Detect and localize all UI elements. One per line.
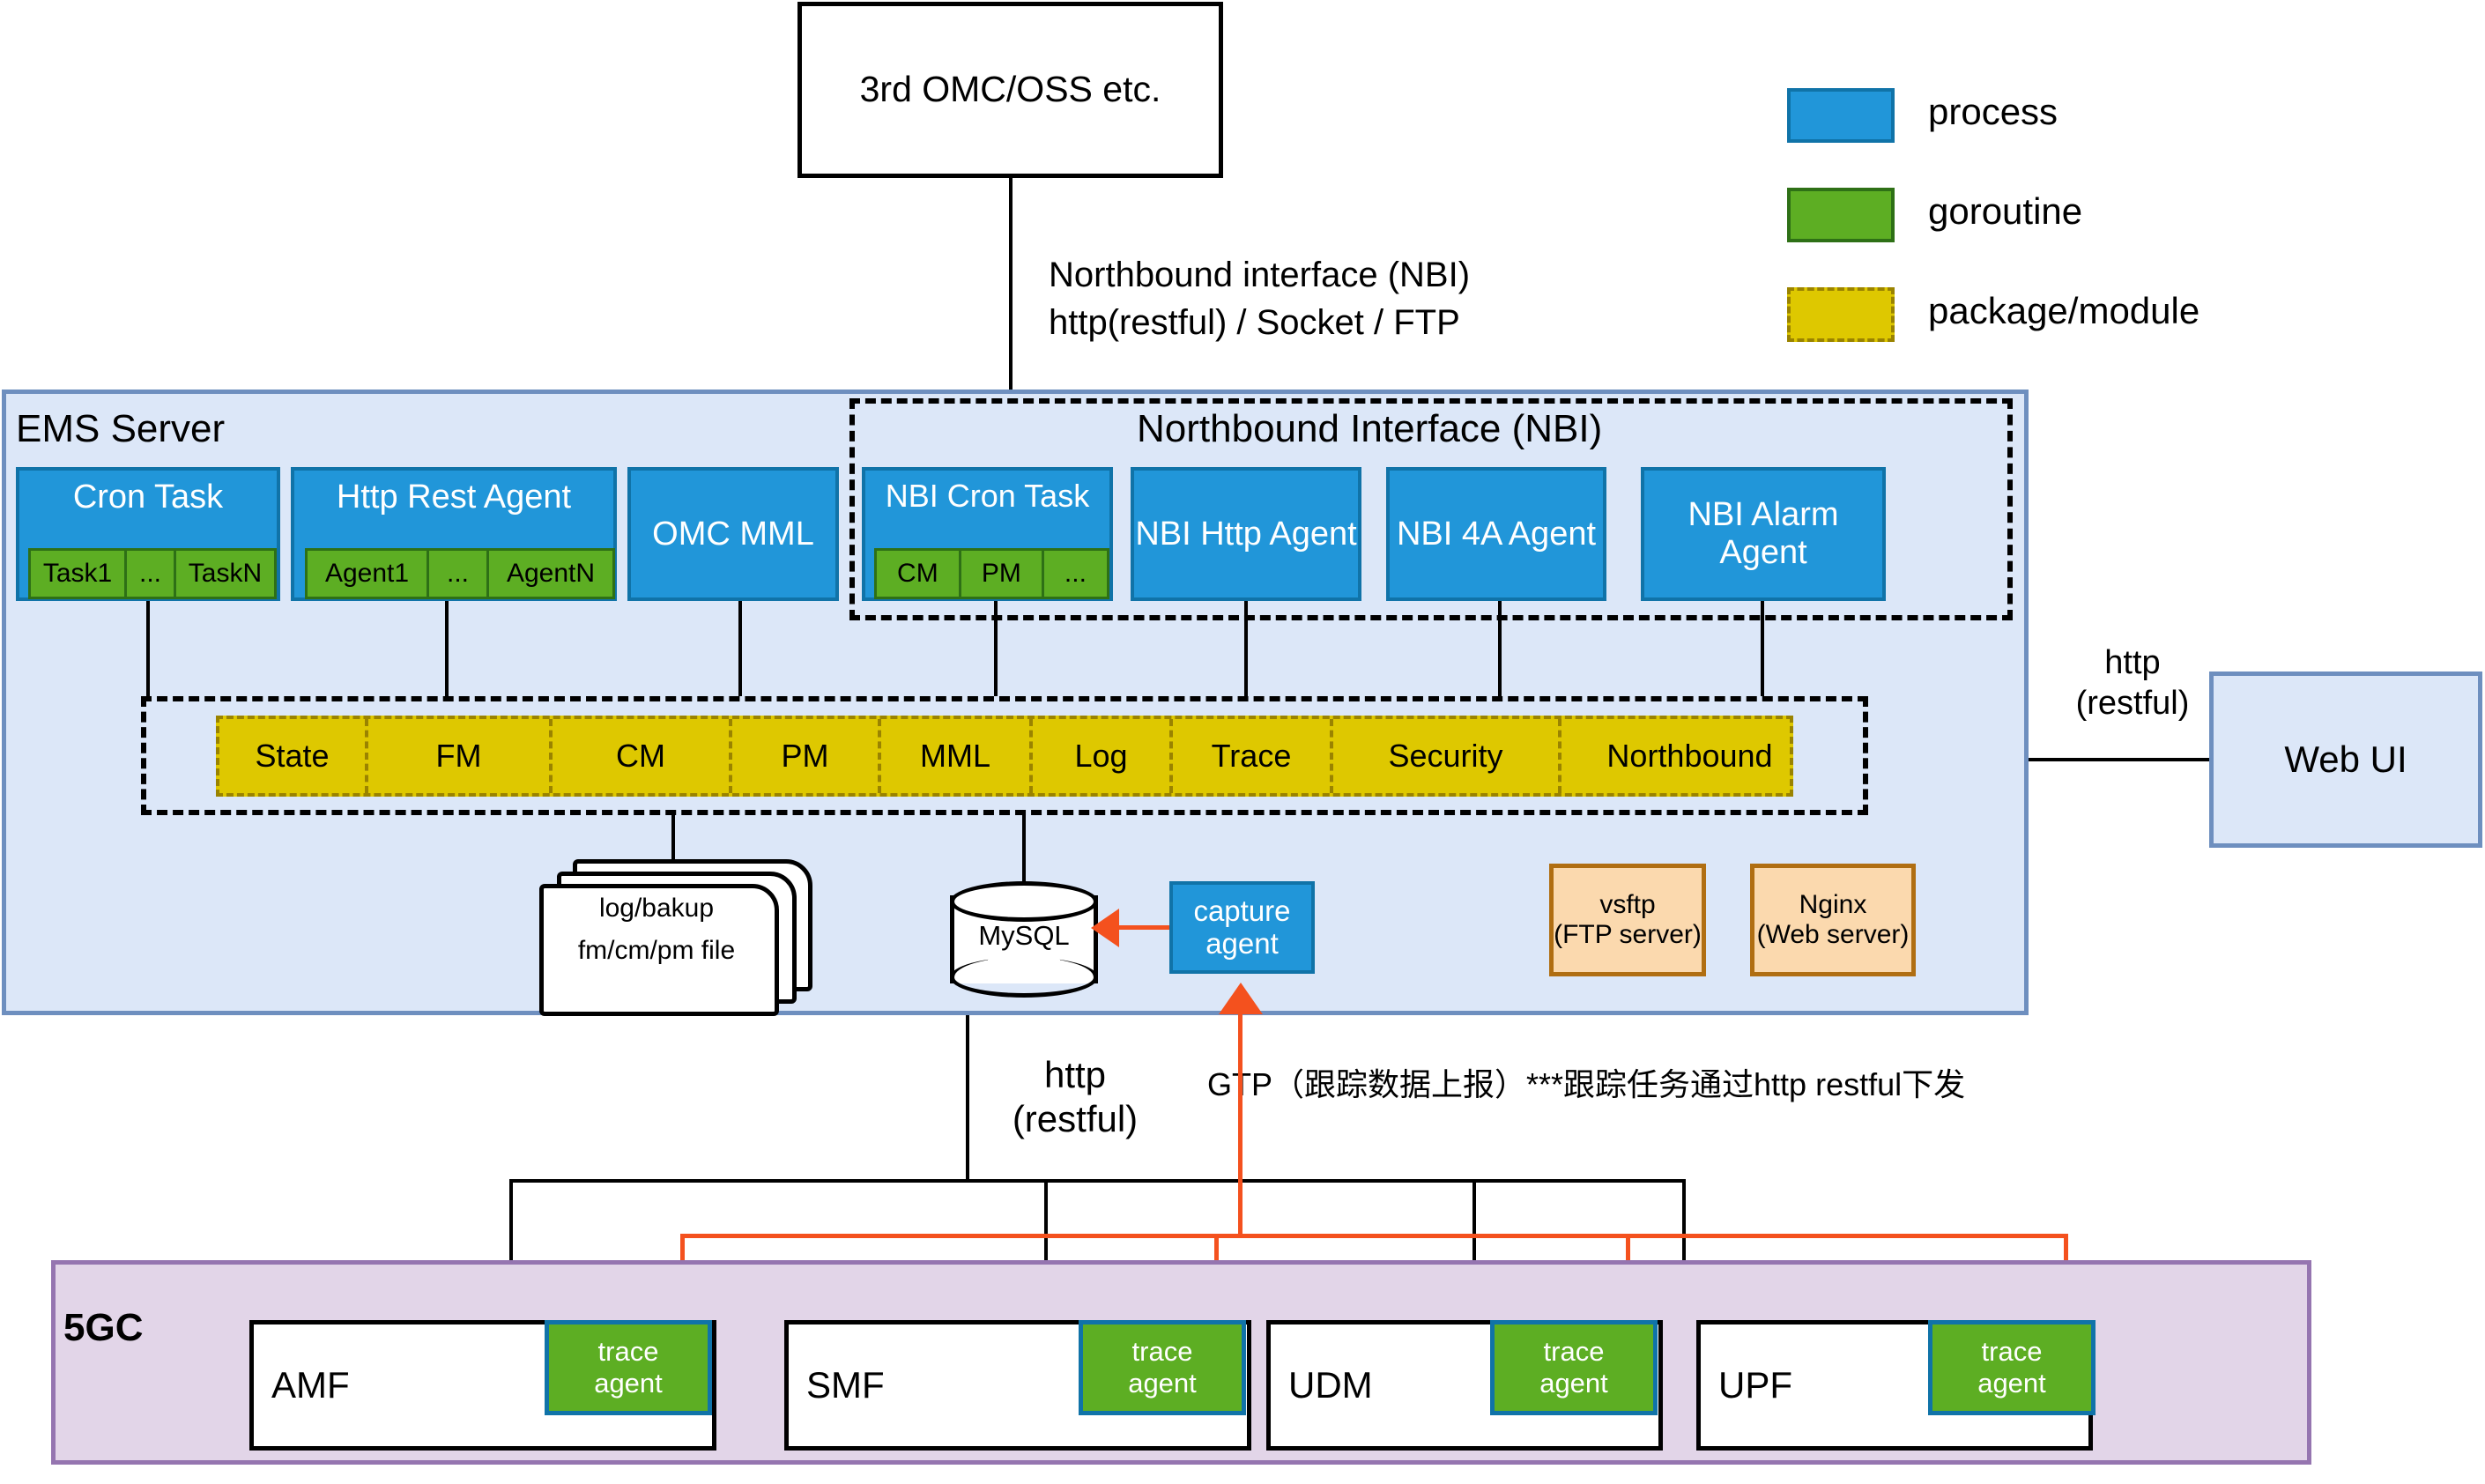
trace-agent-amf-label: trace agent bbox=[594, 1336, 663, 1399]
process-nbi-4a-agent-label: NBI 4A Agent bbox=[1397, 516, 1596, 553]
server-nginx-line2: (Web server) bbox=[1757, 920, 1910, 950]
trace-agent-upf[interactable]: trace agent bbox=[1928, 1320, 2096, 1415]
module-fm[interactable]: FM bbox=[368, 719, 553, 793]
nbi-group-title: Northbound Interface (NBI) bbox=[1137, 407, 1602, 451]
webui-box[interactable]: Web UI bbox=[2209, 672, 2482, 848]
process-http-rest-agent[interactable]: Http Rest Agent Agent1 ... AgentN bbox=[291, 467, 617, 601]
goroutine-cell[interactable]: ... bbox=[127, 551, 176, 597]
capture-agent-line2: agent bbox=[1193, 928, 1290, 961]
module-mml[interactable]: MML bbox=[881, 719, 1033, 793]
connector-gtp-trunk-vertical bbox=[1238, 1010, 1242, 1237]
http-restful-line1: http bbox=[996, 1053, 1154, 1097]
nbi-link-label: Northbound interface (NBI) http(restful)… bbox=[1049, 251, 1470, 346]
external-omc-oss-box: 3rd OMC/OSS etc. bbox=[797, 2, 1223, 178]
connector-core-bus-horizontal bbox=[509, 1179, 1686, 1183]
database-cylinder: MySQL bbox=[950, 881, 1098, 998]
process-nbi-4a-agent[interactable]: NBI 4A Agent bbox=[1386, 467, 1606, 601]
server-nginx[interactable]: Nginx (Web server) bbox=[1750, 864, 1916, 976]
connector-modules-to-file-store bbox=[671, 815, 675, 861]
nbi-link-label-line2: http(restful) / Socket / FTP bbox=[1049, 299, 1470, 346]
external-omc-oss-label: 3rd OMC/OSS etc. bbox=[860, 70, 1161, 110]
connector-nbi-http-agent-to-modules bbox=[1244, 601, 1248, 696]
module-pm[interactable]: PM bbox=[732, 719, 881, 793]
server-vsftp-label: vsftp (FTP server) bbox=[1554, 890, 1702, 949]
database-top-ellipse bbox=[950, 881, 1098, 922]
trace-agent-amf[interactable]: trace agent bbox=[545, 1320, 712, 1415]
network-function-upf-label: UPF bbox=[1718, 1364, 1792, 1406]
server-vsftp-line2: (FTP server) bbox=[1554, 920, 1702, 950]
trace-agent-udm[interactable]: trace agent bbox=[1490, 1320, 1658, 1415]
goroutine-cell[interactable]: CM bbox=[877, 551, 961, 597]
network-function-udm-label: UDM bbox=[1288, 1364, 1373, 1406]
network-function-amf-label: AMF bbox=[271, 1364, 350, 1406]
module-northbound[interactable]: Northbound bbox=[1561, 719, 1818, 793]
legend-swatch-goroutine bbox=[1787, 188, 1895, 242]
network-function-smf-label: SMF bbox=[806, 1364, 885, 1406]
database-label: MySQL bbox=[950, 920, 1098, 952]
http-restful-line2: (restful) bbox=[996, 1097, 1154, 1141]
goroutine-strip-cron-task: Task1 ... TaskN bbox=[28, 548, 277, 599]
process-nbi-cron-task[interactable]: NBI Cron Task CM PM ... bbox=[862, 467, 1113, 601]
process-nbi-alarm-agent[interactable]: NBI Alarm Agent bbox=[1641, 467, 1886, 601]
server-vsftp-line1: vsftp bbox=[1554, 890, 1702, 920]
nbi-link-label-line1: Northbound interface (NBI) bbox=[1049, 251, 1470, 299]
goroutine-cell[interactable]: ... bbox=[1044, 551, 1107, 597]
arrowhead-gtp-to-capture-icon bbox=[1219, 983, 1263, 1014]
trace-agent-udm-line2: agent bbox=[1539, 1368, 1608, 1399]
trace-agent-upf-label: trace agent bbox=[1977, 1336, 2046, 1399]
legend-label-process: process bbox=[1928, 91, 2058, 133]
capture-agent-line1: capture bbox=[1193, 895, 1290, 928]
legend: process goroutine package/module bbox=[1787, 88, 2404, 344]
goroutine-strip-http-rest-agent: Agent1 ... AgentN bbox=[305, 548, 615, 599]
connector-http-rest-agent-to-modules bbox=[445, 601, 449, 696]
goroutine-cell[interactable]: TaskN bbox=[176, 551, 274, 597]
legend-swatch-package-module bbox=[1787, 287, 1895, 342]
gtp-note-label: GTP（跟踪数据上报）***跟踪任务通过http restful下发 bbox=[1207, 1059, 1965, 1105]
goroutine-cell[interactable]: Task1 bbox=[31, 551, 127, 597]
module-security[interactable]: Security bbox=[1333, 719, 1561, 793]
file-store-label: log/bakup fm/cm/pm file bbox=[546, 887, 767, 972]
connector-ems-to-core-trunk bbox=[966, 1015, 969, 1183]
goroutine-strip-nbi-cron-task: CM PM ... bbox=[874, 548, 1109, 599]
file-store-line2: fm/cm/pm file bbox=[546, 930, 767, 972]
capture-agent-label: capture agent bbox=[1193, 895, 1290, 961]
connector-omc-mml-to-modules bbox=[738, 601, 742, 696]
process-nbi-alarm-agent-label: NBI Alarm Agent bbox=[1644, 496, 1882, 571]
process-http-rest-agent-label: Http Rest Agent bbox=[294, 479, 613, 516]
module-bar: State FM CM PM MML Log Trace Security No… bbox=[216, 716, 1793, 797]
server-nginx-label: Nginx (Web server) bbox=[1757, 890, 1910, 949]
file-store-line1: log/bakup bbox=[546, 887, 767, 930]
module-trace[interactable]: Trace bbox=[1173, 719, 1333, 793]
trace-agent-smf[interactable]: trace agent bbox=[1079, 1320, 1246, 1415]
legend-swatch-process bbox=[1787, 88, 1895, 143]
connector-nbi-4a-agent-to-modules bbox=[1498, 601, 1502, 696]
process-nbi-http-agent-label: NBI Http Agent bbox=[1135, 516, 1356, 553]
ems-server-title: EMS Server bbox=[16, 407, 225, 451]
core-5gc-title: 5GC bbox=[63, 1306, 143, 1350]
module-state[interactable]: State bbox=[219, 719, 368, 793]
trace-agent-amf-line2: agent bbox=[594, 1368, 663, 1399]
process-cron-task-label: Cron Task bbox=[19, 479, 277, 516]
http-restful-link-label: http (restful) bbox=[996, 1053, 1154, 1142]
trace-agent-upf-line1: trace bbox=[1977, 1336, 2046, 1368]
connector-nbi-alarm-agent-to-modules bbox=[1761, 601, 1764, 696]
webui-link-line1: http bbox=[2053, 643, 2212, 684]
trace-agent-amf-line1: trace bbox=[594, 1336, 663, 1368]
legend-label-package-module: package/module bbox=[1928, 290, 2199, 332]
legend-label-goroutine: goroutine bbox=[1928, 190, 2082, 233]
trace-agent-smf-line2: agent bbox=[1128, 1368, 1197, 1399]
connector-gtp-bus-horizontal bbox=[680, 1234, 2068, 1238]
trace-agent-udm-label: trace agent bbox=[1539, 1336, 1608, 1399]
trace-agent-udm-line1: trace bbox=[1539, 1336, 1608, 1368]
goroutine-cell[interactable]: ... bbox=[429, 551, 489, 597]
trace-agent-smf-label: trace agent bbox=[1128, 1336, 1197, 1399]
server-nginx-line1: Nginx bbox=[1757, 890, 1910, 920]
connector-capture-to-database bbox=[1115, 925, 1169, 930]
process-nbi-http-agent[interactable]: NBI Http Agent bbox=[1131, 467, 1361, 601]
process-capture-agent[interactable]: capture agent bbox=[1169, 881, 1315, 974]
process-omc-mml[interactable]: OMC MML bbox=[627, 467, 839, 601]
trace-agent-upf-line2: agent bbox=[1977, 1368, 2046, 1399]
process-cron-task[interactable]: Cron Task Task1 ... TaskN bbox=[16, 467, 280, 601]
server-vsftp[interactable]: vsftp (FTP server) bbox=[1549, 864, 1706, 976]
connector-cron-task-to-modules bbox=[146, 601, 150, 696]
connector-modules-to-database bbox=[1022, 815, 1026, 884]
module-cm[interactable]: CM bbox=[553, 719, 732, 793]
webui-link-label: http (restful) bbox=[2053, 643, 2212, 723]
trace-agent-smf-line1: trace bbox=[1128, 1336, 1197, 1368]
webui-label: Web UI bbox=[2284, 738, 2407, 780]
arrowhead-capture-to-database-icon bbox=[1091, 909, 1119, 947]
connector-omc-to-ems bbox=[1009, 178, 1013, 398]
connector-nbi-cron-task-to-modules bbox=[994, 601, 998, 696]
goroutine-cell[interactable]: AgentN bbox=[489, 551, 612, 597]
file-store: log/bakup fm/cm/pm file bbox=[539, 859, 821, 1000]
webui-link-line2: (restful) bbox=[2053, 684, 2212, 724]
connector-ems-to-webui bbox=[2029, 758, 2209, 761]
process-omc-mml-label: OMC MML bbox=[652, 516, 814, 553]
goroutine-cell[interactable]: PM bbox=[961, 551, 1044, 597]
database-bottom-ellipse bbox=[950, 957, 1098, 998]
process-nbi-cron-task-label: NBI Cron Task bbox=[865, 479, 1109, 514]
goroutine-cell[interactable]: Agent1 bbox=[308, 551, 429, 597]
module-log[interactable]: Log bbox=[1033, 719, 1173, 793]
